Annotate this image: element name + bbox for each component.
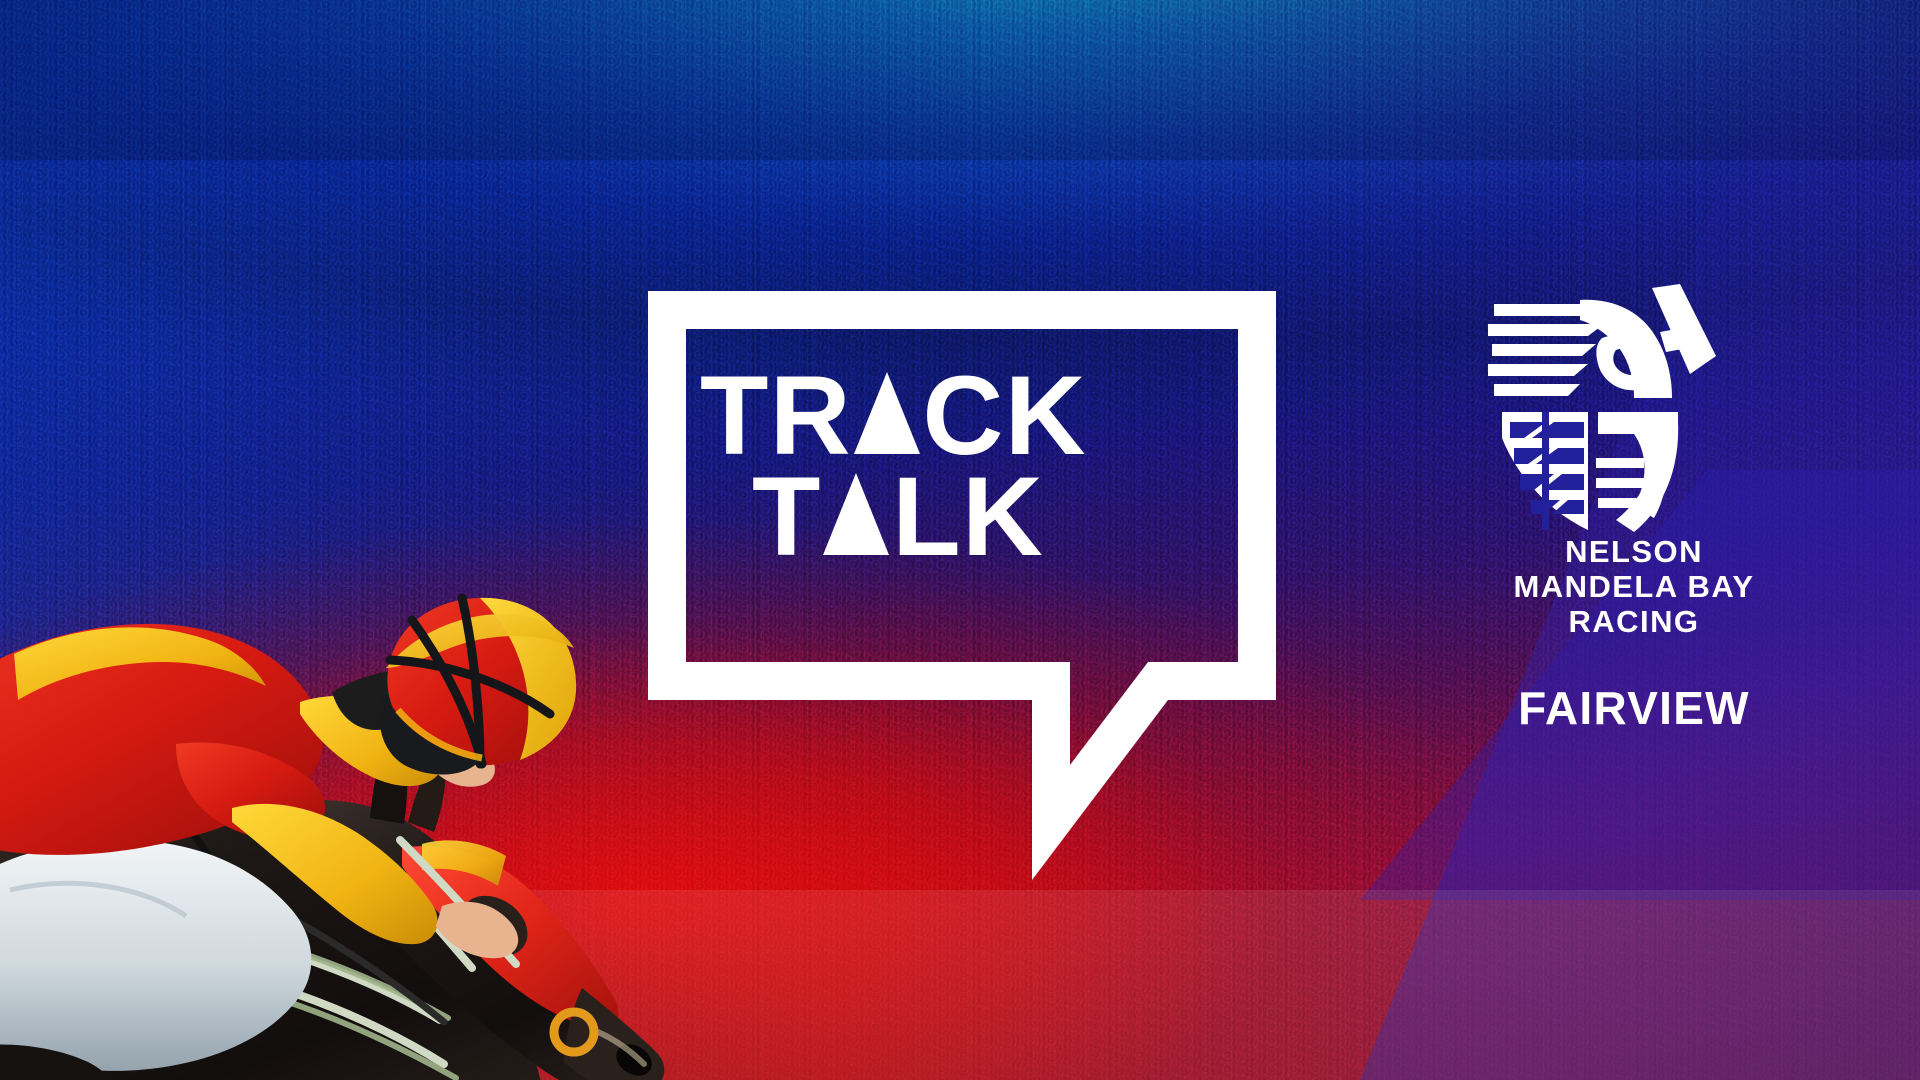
- nmb-racing-wordmark: NELSON MANDELA BAY RACING: [1434, 534, 1834, 639]
- angular-a-glyph-1: [854, 371, 921, 454]
- wordmark-line2-tail: LK: [892, 454, 1044, 579]
- angular-a-glyph-2: [823, 472, 890, 555]
- track-talk-wordmark: TRCK TLK: [700, 366, 1240, 568]
- wordmark-line2-head: T: [752, 454, 822, 579]
- nmb-wordmark-line-1: NELSON: [1434, 534, 1834, 569]
- track-talk-banner: TRCK TLK: [0, 0, 1920, 1080]
- nelson-mandela-bay-racing-logo: [1484, 282, 1784, 532]
- venue-name-fairview: FAIRVIEW: [1434, 681, 1834, 735]
- nmb-wordmark-line-2: MANDELA BAY: [1434, 569, 1834, 604]
- nmb-wordmark-line-3: RACING: [1434, 604, 1834, 639]
